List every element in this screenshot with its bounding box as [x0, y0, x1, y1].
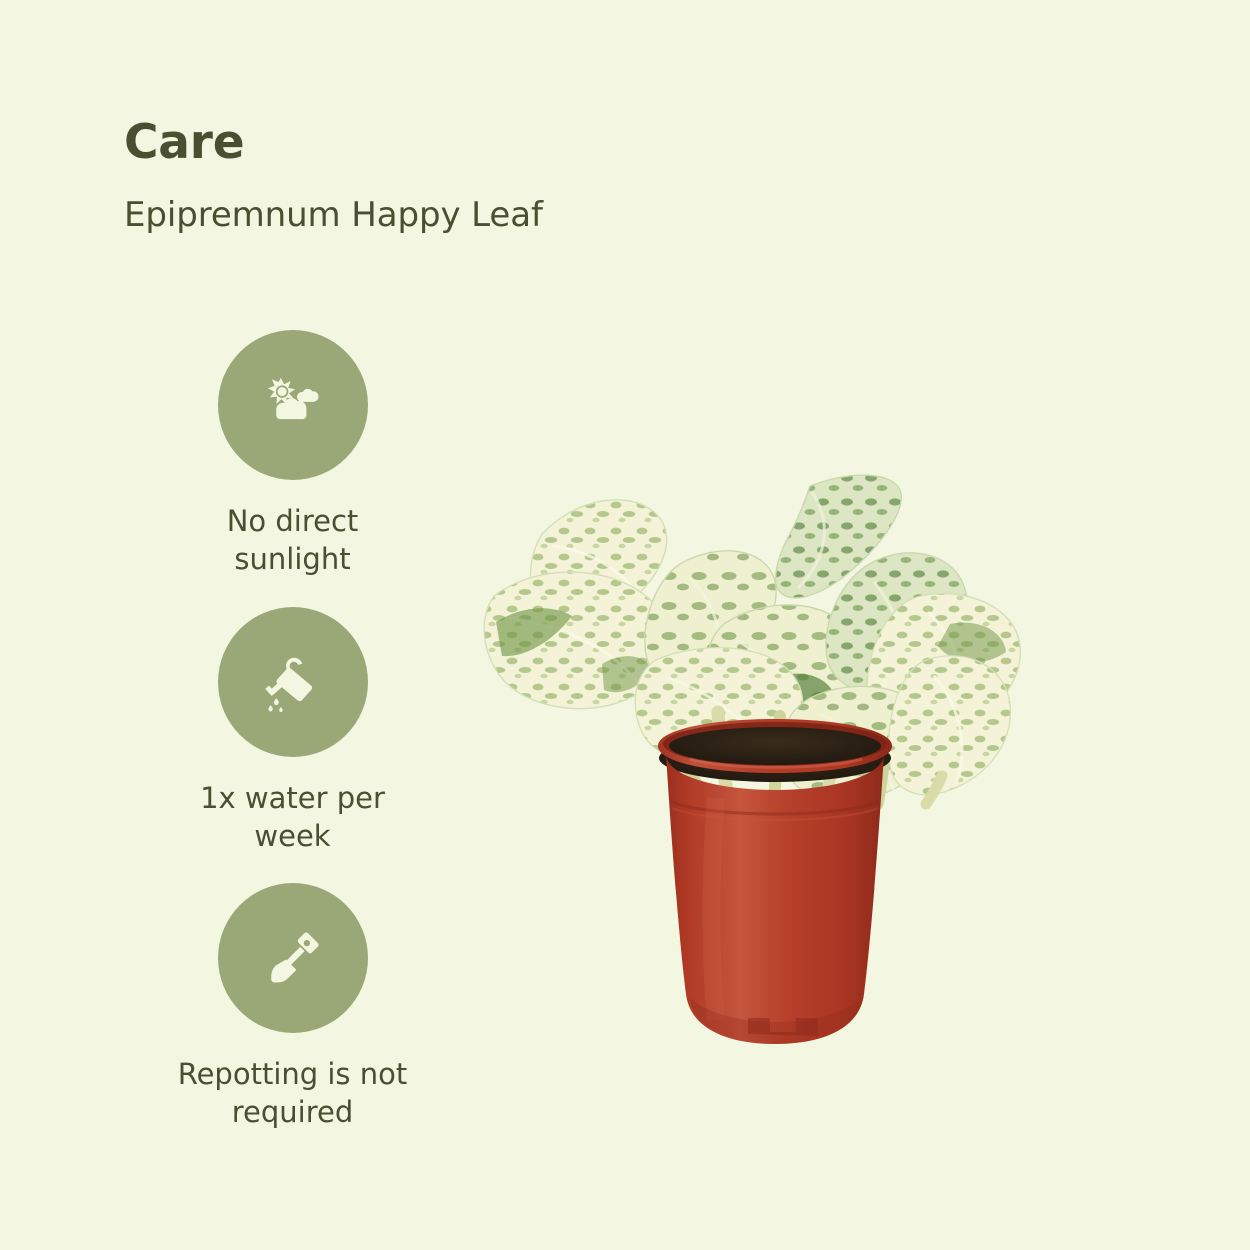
plant-photo — [480, 446, 1070, 1086]
care-badge-sunlight — [218, 330, 368, 480]
care-item-sunlight: No direct sunlight — [130, 330, 455, 579]
care-badge-water — [218, 607, 368, 757]
plant-illustration — [480, 446, 1070, 1086]
card-header: Care Epipremnum Happy Leaf — [124, 118, 824, 235]
plant-pot — [658, 719, 892, 1044]
page-title: Care — [124, 118, 824, 167]
care-item-water: 1x water per week — [130, 607, 455, 856]
care-label-sunlight: No direct sunlight — [148, 502, 438, 579]
care-badge-repotting — [218, 883, 368, 1033]
sun-behind-cloud-icon — [256, 368, 330, 442]
watering-can-icon — [256, 645, 330, 719]
shovel-icon — [256, 921, 330, 995]
plant-care-card: Care Epipremnum Happy Leaf — [0, 0, 1250, 1250]
care-label-water: 1x water per week — [148, 779, 438, 856]
care-item-repotting: Repotting is not required — [130, 883, 455, 1132]
care-label-repotting: Repotting is not required — [148, 1055, 438, 1132]
page-subtitle: Epipremnum Happy Leaf — [124, 197, 824, 234]
care-list: No direct sunlight — [130, 330, 455, 1160]
